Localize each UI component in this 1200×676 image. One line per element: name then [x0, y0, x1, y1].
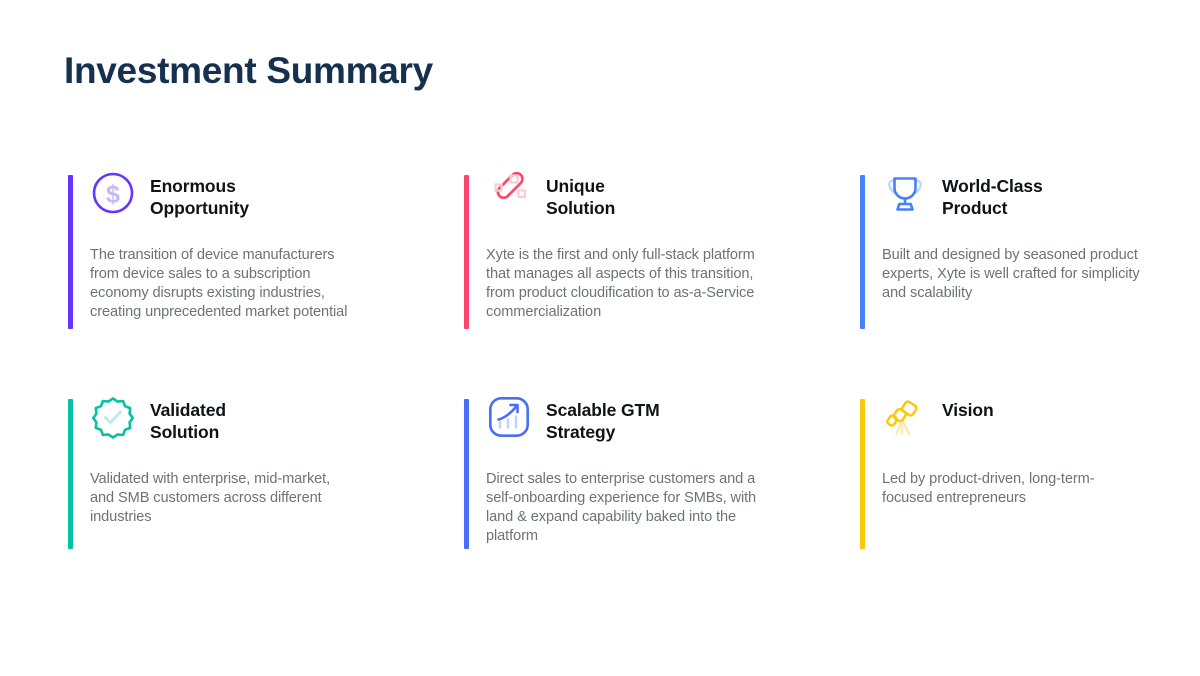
accent-bar: [68, 399, 73, 549]
card-body: Led by product-driven, long-term-focused…: [882, 470, 1144, 508]
cards-grid: $ Enormous Opportunity The transition of…: [64, 172, 1144, 556]
magic-wand-icon: [486, 170, 532, 216]
card-title: World-Class Product: [942, 172, 1043, 219]
card-body: Xyte is the first and only full-stack pl…: [486, 246, 758, 322]
dollar-circle-icon: $: [90, 170, 136, 216]
card-scalable-gtm-strategy[interactable]: Scalable GTM Strategy Direct sales to en…: [460, 396, 856, 556]
telescope-icon: [882, 394, 928, 440]
card-world-class-product[interactable]: World-Class Product Built and designed b…: [856, 172, 1144, 396]
trophy-icon: [882, 170, 928, 216]
slide-root: Investment Summary $ Enormous Opportunit…: [0, 0, 1200, 676]
svg-text:$: $: [106, 181, 120, 209]
card-body: Validated with enterprise, mid-market, a…: [90, 470, 358, 527]
growth-chart-icon: [486, 394, 532, 440]
page-title: Investment Summary: [64, 50, 433, 93]
card-header: Vision: [882, 396, 1144, 448]
accent-bar: [68, 175, 73, 329]
accent-bar: [464, 399, 469, 549]
card-title: Validated Solution: [150, 396, 226, 443]
card-title: Enormous Opportunity: [150, 172, 249, 219]
card-unique-solution[interactable]: Unique Solution Xyte is the first and on…: [460, 172, 856, 396]
card-body: Built and designed by seasoned product e…: [882, 246, 1144, 303]
card-vision[interactable]: Vision Led by product-driven, long-term-…: [856, 396, 1144, 556]
card-title: Scalable GTM Strategy: [546, 396, 660, 443]
card-header: Scalable GTM Strategy: [486, 396, 856, 448]
card-title: Vision: [942, 396, 994, 421]
card-header: Unique Solution: [486, 172, 856, 224]
card-title: Unique Solution: [546, 172, 615, 219]
card-header: Validated Solution: [90, 396, 460, 448]
accent-bar: [860, 175, 865, 329]
card-body: Direct sales to enterprise customers and…: [486, 470, 758, 546]
accent-bar: [860, 399, 865, 549]
accent-bar: [464, 175, 469, 329]
card-header: $ Enormous Opportunity: [90, 172, 460, 224]
badge-check-icon: [90, 394, 136, 440]
card-header: World-Class Product: [882, 172, 1144, 224]
card-enormous-opportunity[interactable]: $ Enormous Opportunity The transition of…: [64, 172, 460, 396]
card-validated-solution[interactable]: Validated Solution Validated with enterp…: [64, 396, 460, 556]
card-body: The transition of device manufacturers f…: [90, 246, 358, 322]
